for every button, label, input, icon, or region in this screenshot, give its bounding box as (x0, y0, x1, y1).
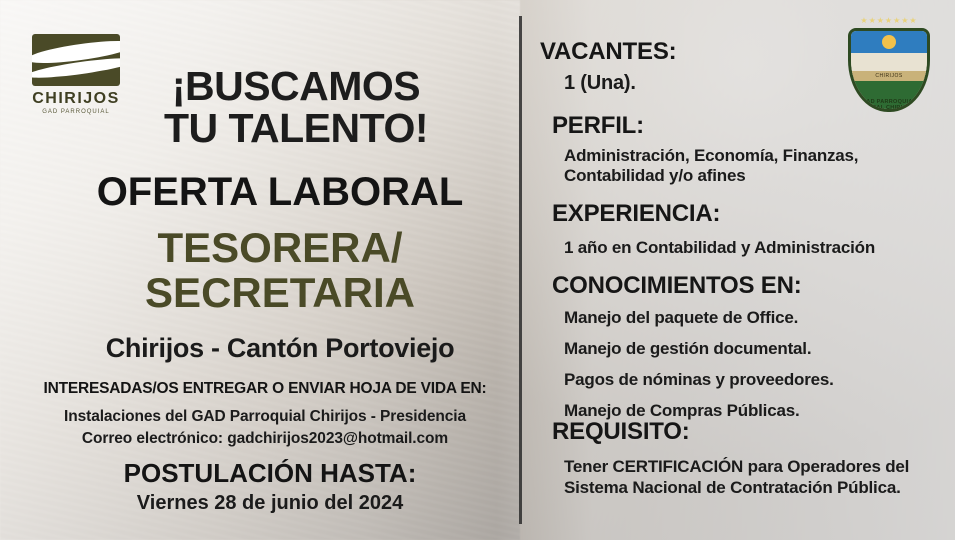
deadline-date: Viernes 28 de junio del 2024 (60, 492, 480, 515)
right-column: VACANTES: 1 (Una). PERFIL: Administració… (540, 0, 955, 540)
role-title: TESORERA/ SECRETARIA (60, 225, 500, 316)
deadline-label: POSTULACIÓN HASTA: (60, 458, 480, 489)
conocimientos-label: CONOCIMIENTOS EN: (552, 272, 952, 300)
left-column: ¡BUSCAMOS TU TALENTO! OFERTA LABORAL TES… (0, 0, 519, 540)
list-item: Pagos de nóminas y proveedores. (564, 370, 954, 390)
headline-line1: ¡BUSCAMOS (172, 63, 420, 109)
offer-title: OFERTA LABORAL (60, 170, 500, 215)
location-text: Chirijos - Cantón Portoviejo (50, 333, 510, 364)
vacantes-label: VACANTES: (540, 38, 940, 66)
headline-line2: TU TALENTO! (96, 108, 496, 150)
list-item: Manejo del paquete de Office. (564, 308, 954, 328)
perfil-label: PERFIL: (552, 112, 952, 140)
experiencia-text: 1 año en Contabilidad y Administración (564, 238, 954, 258)
requisito-text: Tener CERTIFICACIÓN para Operadores del … (564, 456, 954, 499)
vacantes-value: 1 (Una). (564, 72, 955, 96)
conocimientos-list: Manejo del paquete de Office. Manejo de … (564, 308, 954, 432)
vertical-divider (519, 16, 522, 524)
address-text: Instalaciones del GAD Parroquial Chirijo… (40, 408, 490, 426)
role-line2: SECRETARIA (60, 270, 500, 315)
list-item: Manejo de gestión documental. (564, 339, 954, 359)
headline: ¡BUSCAMOS TU TALENTO! (96, 66, 496, 150)
instructions-text: INTERESADAS/OS ENTREGAR O ENVIAR HOJA DE… (40, 380, 490, 398)
experiencia-label: EXPERIENCIA: (552, 200, 952, 228)
requisito-label: REQUISITO: (552, 418, 952, 446)
email-text: Correo electrónico: gadchirijos2023@hotm… (40, 430, 490, 448)
perfil-text: Administración, Economía, Finanzas, Cont… (564, 146, 954, 186)
role-line1: TESORERA/ (60, 225, 500, 270)
